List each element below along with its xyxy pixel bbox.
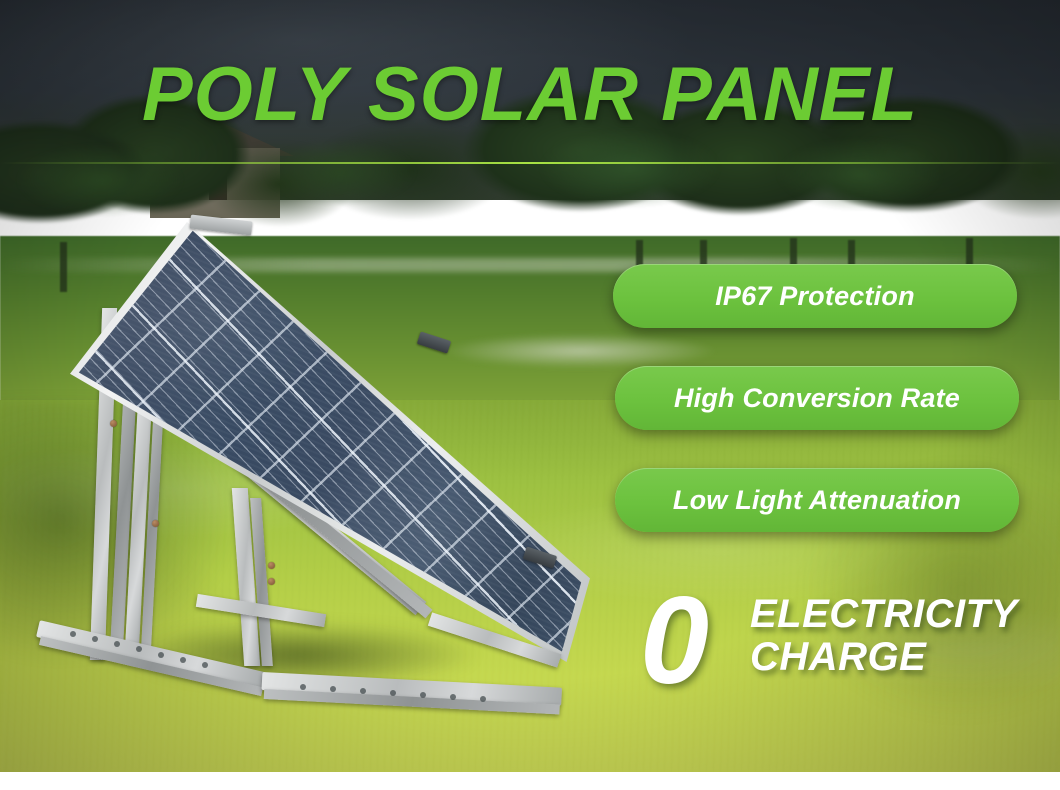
rail-hole (158, 652, 164, 658)
feature-pill-conversion-rate[interactable]: High Conversion Rate (615, 366, 1019, 430)
zero-charge-callout: 0 ELECTRICITY CHARGE (640, 585, 1040, 695)
bottom-margin (0, 772, 1060, 790)
rail-hole (330, 686, 336, 692)
zero-charge-number: 0 (640, 579, 709, 703)
rail-hole (92, 636, 98, 642)
feature-pill-label: High Conversion Rate (674, 383, 960, 414)
rail-hole (300, 684, 306, 690)
rail-hole (202, 662, 208, 668)
rail-hole (114, 641, 120, 647)
zero-charge-line-2: CHARGE (750, 636, 1018, 679)
feature-pill-label: IP67 Protection (715, 281, 915, 312)
mount-bolt (268, 578, 275, 585)
rail-hole (480, 696, 486, 702)
rail-hole (70, 631, 76, 637)
rail-hole (420, 692, 426, 698)
rail-hole (390, 690, 396, 696)
zero-charge-line-1: ELECTRICITY (750, 593, 1018, 636)
promo-banner: POLY SOLAR PANEL IP67 Protection High Co… (0, 0, 1060, 790)
page-title: POLY SOLAR PANEL (0, 57, 1060, 133)
solar-panel (70, 222, 590, 662)
rail-hole (136, 646, 142, 652)
feature-pill-ip67[interactable]: IP67 Protection (613, 264, 1017, 328)
panel-reflection (70, 222, 590, 662)
zero-charge-text: ELECTRICITY CHARGE (750, 593, 1018, 679)
mount-bolt (268, 562, 275, 569)
feature-pill-light-attenuation[interactable]: Low Light Attenuation (615, 468, 1019, 532)
rail-hole (180, 657, 186, 663)
feature-list: IP67 Protection High Conversion Rate Low… (613, 264, 1017, 570)
rail-hole (360, 688, 366, 694)
mount-bolt (152, 520, 159, 527)
rail-hole (450, 694, 456, 700)
feature-pill-label: Low Light Attenuation (673, 485, 961, 516)
mount-bolt (110, 420, 117, 427)
